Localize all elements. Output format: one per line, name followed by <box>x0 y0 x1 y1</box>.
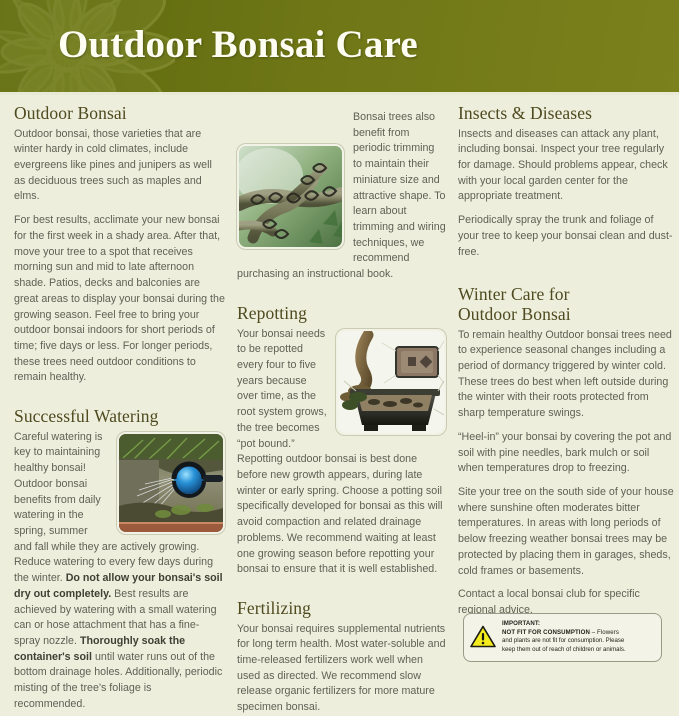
heading-winter-care-line2: Outdoor Bonsai <box>458 305 675 325</box>
paragraph-outdoor-bonsai-1: Outdoor bonsai, those varieties that are… <box>14 127 225 206</box>
paragraph-winter-1: To remain healthy Outdoor bonsai trees n… <box>458 328 675 422</box>
page-header-banner: Outdoor Bonsai Care <box>0 0 679 95</box>
content-sheet: Outdoor Bonsai Outdoor bonsai, those var… <box>0 95 679 682</box>
warning-line-3: and plants are not fit for consumption. … <box>502 637 626 646</box>
warning-line-2: NOT FIT FOR CONSUMPTION – Flowers <box>502 629 626 638</box>
warning-text: IMPORTANT: NOT FIT FOR CONSUMPTION – Flo… <box>502 620 626 655</box>
heading-winter-care-line1: Winter Care for <box>458 285 675 305</box>
column-left: Outdoor Bonsai Outdoor bonsai, those var… <box>14 104 225 713</box>
paragraph-winter-2: “Heel-in” your bonsai by covering the po… <box>458 430 675 477</box>
paragraph-outdoor-bonsai-2: For best results, acclimate your new bon… <box>14 213 225 386</box>
paragraph-insects-1: Insects and diseases can attack any plan… <box>458 127 675 206</box>
warning-line-2-bold: NOT FIT FOR CONSUMPTION <box>502 629 590 636</box>
wired-bonsai-branch-photo <box>237 144 344 249</box>
heading-insects-diseases: Insects & Diseases <box>458 104 675 124</box>
paragraph-fertilizing: Your bonsai requires supplemental nutrie… <box>237 622 446 716</box>
important-warning-box: IMPORTANT: NOT FIT FOR CONSUMPTION – Flo… <box>463 613 662 662</box>
paragraph-winter-3: Site your tree on the south side of your… <box>458 485 675 579</box>
warning-line-4: keep them out of reach of children or an… <box>502 646 626 655</box>
warning-line-2-rest: – Flowers <box>590 629 619 636</box>
heading-repotting: Repotting <box>237 304 446 324</box>
column-middle: Bonsai trees also benefit from periodic … <box>237 104 446 716</box>
paragraph-insects-2: Periodically spray the trunk and foliage… <box>458 213 675 260</box>
heading-successful-watering: Successful Watering <box>14 407 225 427</box>
bonsai-repotting-pot-photo <box>336 329 446 435</box>
page-title: Outdoor Bonsai Care <box>58 22 418 67</box>
warning-line-1: IMPORTANT: <box>502 620 626 629</box>
column-right: Insects & Diseases Insects and diseases … <box>458 104 675 619</box>
heading-outdoor-bonsai: Outdoor Bonsai <box>14 104 225 124</box>
watering-hose-spray-photo <box>117 432 225 534</box>
warning-triangle-icon <box>470 625 496 648</box>
heading-fertilizing: Fertilizing <box>237 599 446 619</box>
